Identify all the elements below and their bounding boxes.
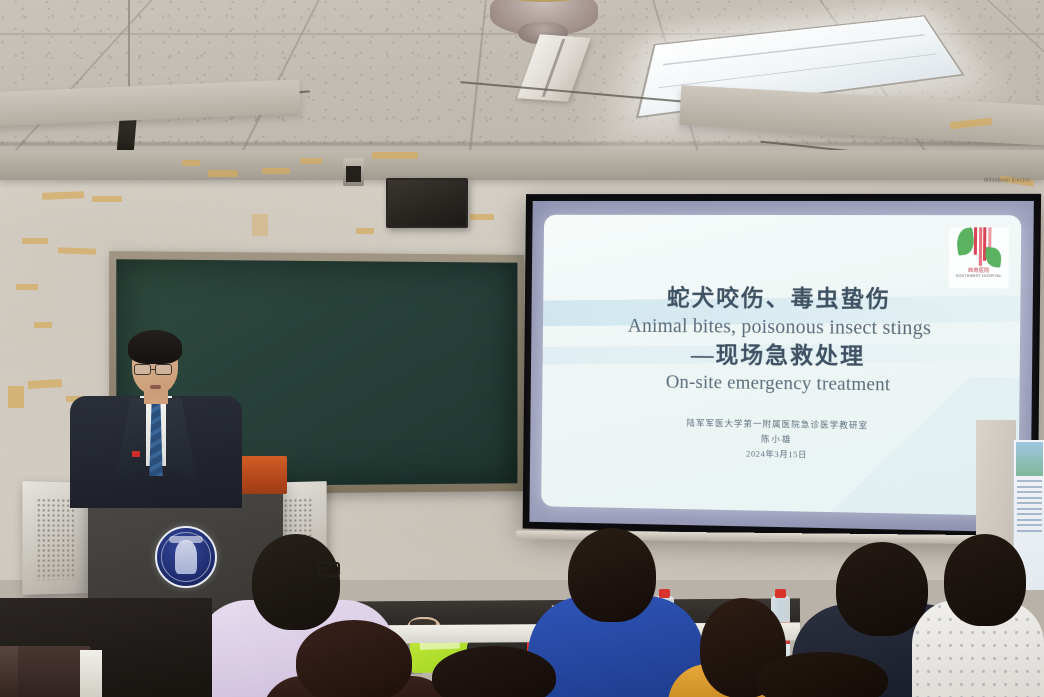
- slide-subtitle-cn: —现场急救处理: [691, 340, 866, 372]
- tape-mark: [372, 152, 418, 159]
- attendee-head: [252, 534, 340, 630]
- projected-area: 西南医院 SOUTHWEST HOSPITAL 蛇犬咬伤、毒虫蛰伤 Animal…: [529, 201, 1033, 532]
- tape-mark: [42, 191, 84, 199]
- presenter-lapel-badge: [132, 451, 140, 457]
- university-crest-emblem: [155, 526, 217, 588]
- projector-brand-label: Mitsubishi Electric: [984, 178, 1031, 184]
- presenter-glasses-left-lens: [134, 364, 151, 375]
- wall-sensor-icon: [343, 158, 364, 186]
- tape-mark: [262, 168, 290, 174]
- tape-mark: [300, 158, 322, 164]
- slide-organization: 陆军军医大学第一附属医院急诊医学教研室: [687, 416, 869, 433]
- tape-mark: [34, 322, 52, 328]
- presenter-hair: [128, 330, 182, 364]
- tape-mark: [58, 247, 96, 254]
- slide-content: 蛇犬咬伤、毒虫蛰伤 Animal bites, poisonous insect…: [541, 215, 1021, 516]
- slide-date: 2024年3月15日: [686, 445, 868, 463]
- desk-white-edge: [80, 650, 102, 697]
- desk-panel-edge: [0, 646, 18, 697]
- tape-mark: [356, 228, 374, 234]
- slide-footer: 陆军军医大学第一附属医院急诊医学教研室 陈小雄 2024年3月15日: [686, 416, 868, 463]
- lecture-hall-photo: Mitsubishi Electric 西南医院 SOUTHWEST HOSPI…: [0, 0, 1044, 697]
- tape-mark: [252, 214, 268, 236]
- attendee-head: [568, 528, 656, 622]
- tape-mark: [208, 170, 238, 177]
- slide-title-cn: 蛇犬咬伤、毒虫蛰伤: [667, 284, 891, 314]
- projection-screen: Mitsubishi Electric 西南医院 SOUTHWEST HOSPI…: [523, 194, 1042, 540]
- slide-subtitle-en: On-site emergency treatment: [666, 371, 891, 398]
- poster-image: [1016, 442, 1043, 476]
- speaker-grille: [36, 498, 75, 581]
- tape-mark: [8, 386, 24, 408]
- presenter-glasses-right-lens: [155, 364, 172, 375]
- attendee-head: [836, 542, 928, 636]
- tape-mark: [92, 196, 122, 202]
- wall-top-beam: [0, 150, 1044, 180]
- tape-mark: [470, 214, 494, 220]
- presenter-mouth: [150, 385, 161, 389]
- tape-mark: [22, 238, 48, 244]
- tape-mark: [182, 160, 200, 166]
- attendee-head: [296, 620, 412, 697]
- presentation-slide: 西南医院 SOUTHWEST HOSPITAL 蛇犬咬伤、毒虫蛰伤 Animal…: [541, 215, 1021, 516]
- attendee-glasses: [318, 562, 340, 577]
- wall-mounted-display: [386, 178, 468, 228]
- ceiling-fan: [470, 0, 620, 94]
- emblem-ring: [161, 532, 211, 582]
- desk-panel: [14, 646, 90, 697]
- slide-title-en: Animal bites, poisonous insect stings: [628, 313, 932, 341]
- poster-text-lines: [1017, 480, 1042, 535]
- tape-mark: [16, 284, 38, 290]
- attendee-head: [944, 534, 1026, 626]
- presenter-glasses-bridge: [151, 369, 156, 370]
